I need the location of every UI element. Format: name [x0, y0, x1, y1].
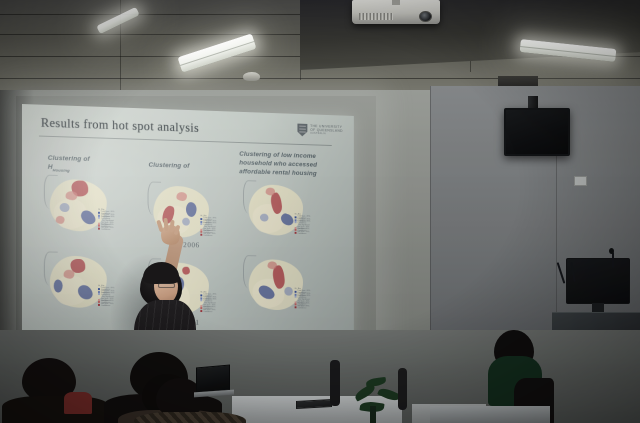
- legend-entry: Hot Spot - 99% Confidence: [295, 231, 313, 234]
- map-col3-2006: Gi_Bin Cold Spot - 99% Confidence Cold S…: [243, 178, 310, 242]
- presenter-glasses-icon: [158, 283, 175, 288]
- audience-desk-3: [430, 406, 550, 423]
- column-heading-1-text: Clustering of: [48, 155, 90, 163]
- smoke-detector-icon: [243, 72, 260, 81]
- column-heading-3: Clustering of low income household who a…: [239, 151, 332, 180]
- map-legend: Gi_Bin Cold Spot - 99% Confidence Cold S…: [295, 288, 313, 308]
- microphone-head-icon: [609, 248, 614, 254]
- map-col3-2011: Gi_Bin Cold Spot - 99% Confidence Cold S…: [243, 253, 310, 316]
- column-heading-1: Clustering of HHousing: [48, 155, 90, 174]
- column-heading-2: Clustering of: [149, 162, 190, 172]
- projector-lens-icon: [419, 11, 432, 22]
- cold-spot-cluster-2: [60, 203, 70, 212]
- audience-laptop-1[interactable]: [196, 365, 230, 394]
- chair-back: [330, 360, 340, 406]
- uq-crest-icon: [297, 124, 307, 137]
- slide-title: Results from hot spot analysis: [41, 116, 199, 136]
- plant-leaf: [366, 377, 387, 387]
- hot-spot-cluster-3: [56, 216, 65, 224]
- wall-seam: [430, 86, 431, 366]
- monitor-stand: [592, 303, 604, 312]
- chair-back-2: [398, 368, 407, 410]
- legend-entry: Hot Spot - 99% Confidence: [295, 306, 313, 309]
- hot-spot-cluster-2: [176, 192, 187, 201]
- wall-socket-plate: [574, 176, 587, 186]
- uq-logo-line3: AUSTRALIA: [310, 133, 343, 137]
- lecture-room-scene: Results from hot spot analysis THE UNIVE…: [0, 0, 640, 423]
- presenter-hair-fringe: [143, 262, 179, 284]
- microphone-stand-3: [612, 252, 614, 268]
- plant-stem: [370, 406, 376, 423]
- column-heading-1-subscript: Housing: [53, 167, 70, 172]
- map-legend: Gi_Bin Cold Spot - 99% Confidence Cold S…: [98, 209, 117, 230]
- audience-torso: [2, 396, 110, 423]
- audience-scarf: [64, 392, 92, 414]
- cold-spot-cluster-2: [260, 214, 268, 222]
- map-col1-2006: Gi_Bin Cold Spot - 99% Confidence Cold S…: [44, 173, 115, 238]
- university-of-queensland-logo: THE UNIVERSITY OF QUEENSLAND AUSTRALIA: [297, 124, 343, 138]
- desktop-monitor[interactable]: [566, 258, 630, 304]
- hot-spot-cluster-2: [268, 261, 277, 269]
- cold-spot-cluster-2: [284, 287, 292, 296]
- slide-title-rule: [39, 136, 332, 146]
- cold-spot-cluster-2: [182, 218, 190, 226]
- audience-member-1: [0, 358, 120, 423]
- wall-mounted-display[interactable]: [504, 108, 570, 156]
- map-legend: Gi_Bin Cold Spot - 99% Confidence Cold S…: [295, 214, 313, 234]
- audience-torso: [134, 412, 246, 423]
- hot-spot-cluster-2: [64, 270, 75, 279]
- projector-mount: [392, 0, 400, 5]
- hot-spot-cluster-2: [66, 191, 78, 200]
- legend-entry: Hot Spot - 99% Confidence: [98, 227, 117, 230]
- hot-spot-cluster-2: [266, 188, 275, 196]
- projector-vent: [359, 13, 393, 20]
